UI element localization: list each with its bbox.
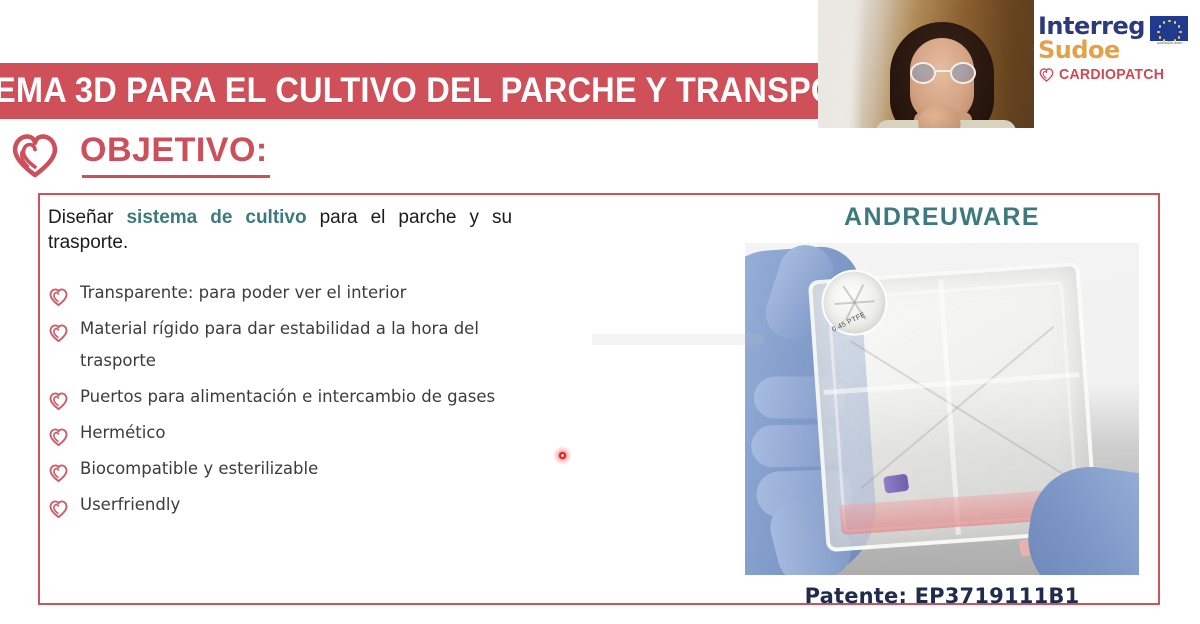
list-item-label: Transparente: para poder ver el interior bbox=[80, 277, 406, 309]
objective-title-wrap: OBJETIVO: bbox=[80, 131, 268, 178]
laser-pointer-cursor bbox=[553, 446, 572, 465]
eu-flag-field bbox=[1150, 16, 1188, 41]
heart-spiral-bullet-icon bbox=[48, 286, 69, 307]
presenter-webcam-overlay[interactable] bbox=[818, 0, 1034, 128]
product-title: ANDREUWARE bbox=[742, 203, 1142, 232]
requirements-list: Transparente: para poder ver el interior… bbox=[48, 283, 518, 521]
title-underline bbox=[82, 175, 270, 178]
list-item-label: Userfriendly bbox=[80, 489, 180, 521]
list-item: Userfriendly bbox=[48, 495, 518, 521]
glasses-left-lens bbox=[910, 62, 936, 84]
lead-text-before: Diseñar bbox=[48, 207, 126, 228]
heart-spiral-icon bbox=[1038, 66, 1055, 83]
product-photo: 0.45 PTFE bbox=[745, 243, 1139, 575]
glasses-icon bbox=[910, 62, 976, 84]
objective-lead-paragraph: Diseñar sistema de cultivo para el parch… bbox=[48, 205, 518, 255]
slide-title-banner: SISTEMA 3D PARA EL CULTIVO DEL PARCHE Y … bbox=[0, 63, 822, 119]
list-item: Biocompatible y esterilizable bbox=[48, 459, 518, 485]
luer-port bbox=[883, 474, 909, 494]
objective-content-box: Diseñar sistema de cultivo para el parch… bbox=[38, 193, 1160, 605]
background-artifact bbox=[592, 334, 764, 345]
glasses-bridge bbox=[936, 70, 950, 72]
heart-spiral-bullet-icon bbox=[48, 462, 69, 483]
objective-heading-row: OBJETIVO: bbox=[8, 128, 268, 180]
patent-label: Patente: EP3719111B1 bbox=[742, 584, 1142, 608]
heart-spiral-bullet-icon bbox=[48, 390, 69, 411]
slide-stage: SISTEMA 3D PARA EL CULTIVO DEL PARCHE Y … bbox=[0, 0, 1200, 624]
list-item-label: Biocompatible y esterilizable bbox=[80, 453, 318, 485]
list-item-label: Hermético bbox=[80, 417, 166, 449]
eu-flag-icon: EUROPEAN UNION bbox=[1150, 16, 1190, 46]
list-item: Material rígido para dar estabilidad a l… bbox=[48, 319, 518, 377]
list-item: Hermético bbox=[48, 423, 518, 449]
list-item: Puertos para alimentación e intercambio … bbox=[48, 387, 518, 413]
page-title: OBJETIVO: bbox=[80, 131, 268, 170]
heart-spiral-bullet-icon bbox=[48, 498, 69, 519]
list-item-label: Puertos para alimentación e intercambio … bbox=[80, 381, 495, 413]
list-item: Transparente: para poder ver el interior bbox=[48, 283, 518, 309]
interreg-sudoe-cardiopatch-logo: Interreg Sudoe CARDIOPATCH bbox=[1038, 14, 1188, 96]
cap-spokes bbox=[834, 300, 874, 305]
heart-spiral-bullet-icon bbox=[48, 322, 69, 343]
logo-cardiopatch-text: CARDIOPATCH bbox=[1059, 66, 1164, 83]
heart-spiral-bullet-icon bbox=[48, 426, 69, 447]
laser-core bbox=[559, 452, 566, 459]
objective-left-column: Diseñar sistema de cultivo para el parch… bbox=[48, 205, 518, 531]
lead-highlight: sistema de cultivo bbox=[126, 207, 306, 228]
cardiopatch-lockup: CARDIOPATCH bbox=[1038, 66, 1188, 83]
list-item-label: Material rígido para dar estabilidad a l… bbox=[80, 313, 518, 377]
glasses-right-lens bbox=[950, 62, 976, 84]
slide-title-text: SISTEMA 3D PARA EL CULTIVO DEL PARCHE Y … bbox=[0, 71, 902, 111]
heart-spiral-icon bbox=[8, 128, 62, 180]
objective-right-column: ANDREUWARE bbox=[742, 203, 1142, 608]
